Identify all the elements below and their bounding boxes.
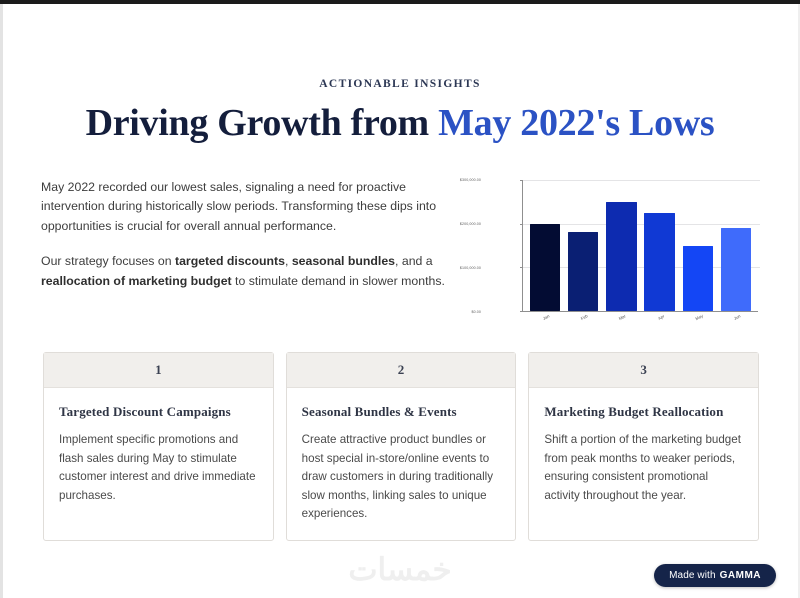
chart-x-axis-label: Apr bbox=[657, 313, 665, 320]
top-edge-bar bbox=[0, 0, 800, 4]
chart-plot-area: JanFebMarAprMayJun bbox=[522, 180, 758, 312]
monthly-sales-bar-chart: JanFebMarAprMayJun $300,000.00$200,000.0… bbox=[484, 176, 760, 334]
badge-prefix-label: Made with bbox=[669, 570, 715, 581]
card-description: Create attractive product bundles or hos… bbox=[302, 431, 501, 524]
chart-bar-may bbox=[683, 246, 713, 312]
intro-paragraph-1: May 2022 recorded our lowest sales, sign… bbox=[41, 178, 465, 236]
card-number-badge: 2 bbox=[287, 353, 516, 388]
card-description: Implement specific promotions and flash … bbox=[59, 431, 258, 505]
chart-x-axis-label: May bbox=[694, 313, 703, 321]
card-title: Targeted Discount Campaigns bbox=[59, 404, 258, 420]
strategy-text-2: , bbox=[285, 254, 292, 268]
chart-x-axis-label: Jan bbox=[542, 313, 550, 321]
headline-plain-text: Driving Growth from bbox=[86, 102, 439, 144]
chart-bar-jan bbox=[530, 224, 560, 311]
chart-y-axis-label: $0.00 bbox=[472, 310, 482, 314]
badge-brand-label: GAMMA bbox=[720, 570, 761, 581]
chart-x-axis-label: Feb bbox=[580, 313, 589, 321]
recommendation-cards: 1Targeted Discount CampaignsImplement sp… bbox=[43, 352, 759, 541]
headline-accent-text: May 2022's Lows bbox=[438, 102, 714, 144]
chart-bar-slot: Jun bbox=[721, 180, 751, 311]
chart-bar-slot: Jan bbox=[530, 180, 560, 311]
card-body: Marketing Budget ReallocationShift a por… bbox=[529, 388, 758, 521]
chart-bar-jun bbox=[721, 228, 751, 311]
chart-bar-slot: Apr bbox=[644, 180, 674, 311]
intro-copy: May 2022 recorded our lowest sales, sign… bbox=[41, 178, 465, 291]
slide-canvas: ACTIONABLE INSIGHTS Driving Growth from … bbox=[0, 0, 800, 598]
card-title: Seasonal Bundles & Events bbox=[302, 404, 501, 420]
strategy-highlight-bundles: seasonal bundles bbox=[292, 254, 395, 268]
eyebrow-label: ACTIONABLE INSIGHTS bbox=[0, 78, 800, 90]
card-body: Targeted Discount CampaignsImplement spe… bbox=[44, 388, 273, 521]
chart-bars: JanFebMarAprMayJun bbox=[523, 180, 758, 311]
strategy-text-3: , and a bbox=[395, 254, 433, 268]
chart-bar-slot: May bbox=[683, 180, 713, 311]
card-title: Marketing Budget Reallocation bbox=[544, 404, 743, 420]
chart-bar-slot: Mar bbox=[606, 180, 636, 311]
strategy-highlight-discounts: targeted discounts bbox=[175, 254, 285, 268]
chart-bar-feb bbox=[568, 232, 598, 311]
page-title: Driving Growth from May 2022's Lows bbox=[0, 101, 800, 145]
card-description: Shift a portion of the marketing budget … bbox=[544, 431, 743, 505]
recommendation-card: 1Targeted Discount CampaignsImplement sp… bbox=[43, 352, 274, 541]
strategy-highlight-budget: reallocation of marketing budget bbox=[41, 274, 232, 288]
strategy-text-1: Our strategy focuses on bbox=[41, 254, 175, 268]
recommendation-card: 2Seasonal Bundles & EventsCreate attract… bbox=[286, 352, 517, 541]
strategy-text-4: to stimulate demand in slower months. bbox=[232, 274, 445, 288]
left-edge-border bbox=[0, 4, 3, 598]
chart-y-tick-mark bbox=[520, 311, 523, 312]
card-number-badge: 3 bbox=[529, 353, 758, 388]
chart-bar-apr bbox=[644, 213, 674, 311]
chart-y-axis-label: $100,000.00 bbox=[460, 266, 481, 270]
chart-x-axis-label: Jun bbox=[733, 313, 741, 321]
made-with-gamma-badge[interactable]: Made with GAMMA bbox=[654, 564, 776, 587]
chart-y-axis-label: $300,000.00 bbox=[460, 178, 481, 182]
recommendation-card: 3Marketing Budget ReallocationShift a po… bbox=[528, 352, 759, 541]
card-number-badge: 1 bbox=[44, 353, 273, 388]
chart-x-axis-label: Mar bbox=[618, 313, 627, 321]
chart-bar-slot: Feb bbox=[568, 180, 598, 311]
chart-bar-mar bbox=[606, 202, 636, 311]
intro-paragraph-2: Our strategy focuses on targeted discoun… bbox=[41, 252, 465, 291]
card-body: Seasonal Bundles & EventsCreate attracti… bbox=[287, 388, 516, 540]
chart-y-axis-label: $200,000.00 bbox=[460, 222, 481, 226]
